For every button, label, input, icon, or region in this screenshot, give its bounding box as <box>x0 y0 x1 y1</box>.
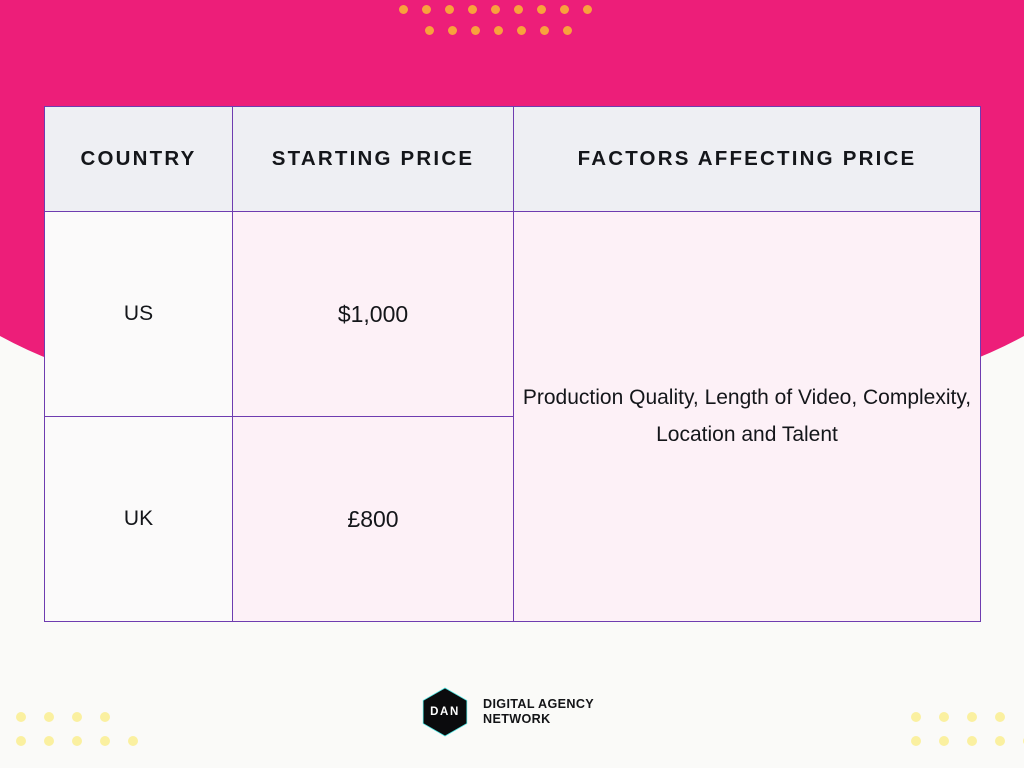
dot-row <box>911 736 1024 746</box>
dot <box>44 736 54 746</box>
dot <box>468 5 477 14</box>
dot <box>128 736 138 746</box>
dot-row <box>399 26 592 35</box>
logo-line-1: DIGITAL AGENCY <box>483 697 594 712</box>
yellow-dot-cluster-left <box>0 712 138 746</box>
dot <box>100 736 110 746</box>
dot <box>517 26 526 35</box>
cell-factors-affecting-price: Production Quality, Length of Video, Com… <box>514 212 981 622</box>
cell-starting-price: £800 <box>233 417 514 622</box>
dot <box>100 712 110 722</box>
dot <box>967 736 977 746</box>
dot <box>44 712 54 722</box>
dot <box>995 736 1005 746</box>
dot-row <box>911 712 1024 722</box>
dot <box>911 736 921 746</box>
dot <box>16 736 26 746</box>
dot <box>491 5 500 14</box>
dot <box>583 5 592 14</box>
dot <box>939 712 949 722</box>
logo-line-2: NETWORK <box>483 712 594 727</box>
cell-country: UK <box>45 417 233 622</box>
dot <box>540 26 549 35</box>
dot <box>471 26 480 35</box>
dot <box>494 26 503 35</box>
dot <box>445 5 454 14</box>
dot <box>537 5 546 14</box>
dan-hexagon-icon: DAN <box>419 686 471 738</box>
dot-row <box>399 5 592 14</box>
dot <box>16 712 26 722</box>
dan-logo-wordmark: DIGITAL AGENCY NETWORK <box>483 697 594 728</box>
table-row: US $1,000 Production Quality, Length of … <box>45 212 981 417</box>
dot <box>448 26 457 35</box>
dot <box>560 5 569 14</box>
column-header-starting-price: STARTING PRICE <box>233 107 514 212</box>
dot <box>72 736 82 746</box>
dot <box>425 26 434 35</box>
dot <box>399 5 408 14</box>
dot <box>514 5 523 14</box>
orange-dot-cluster <box>399 5 592 35</box>
dot <box>967 712 977 722</box>
cell-starting-price: $1,000 <box>233 212 514 417</box>
dot-row <box>0 736 138 746</box>
dot <box>911 712 921 722</box>
dot <box>939 736 949 746</box>
dot <box>72 712 82 722</box>
dot-row <box>0 712 138 722</box>
dot <box>995 712 1005 722</box>
dot <box>422 5 431 14</box>
column-header-factors-affecting-price: FACTORS AFFECTING PRICE <box>514 107 981 212</box>
yellow-dot-cluster-right <box>911 712 1024 746</box>
table-header-row: COUNTRY STARTING PRICE FACTORS AFFECTING… <box>45 107 981 212</box>
dot <box>563 26 572 35</box>
cell-country: US <box>45 212 233 417</box>
dan-logo: DAN DIGITAL AGENCY NETWORK <box>419 686 594 738</box>
dan-logo-mark-text: DAN <box>419 686 471 738</box>
price-comparison-table: COUNTRY STARTING PRICE FACTORS AFFECTING… <box>44 106 980 621</box>
column-header-country: COUNTRY <box>45 107 233 212</box>
